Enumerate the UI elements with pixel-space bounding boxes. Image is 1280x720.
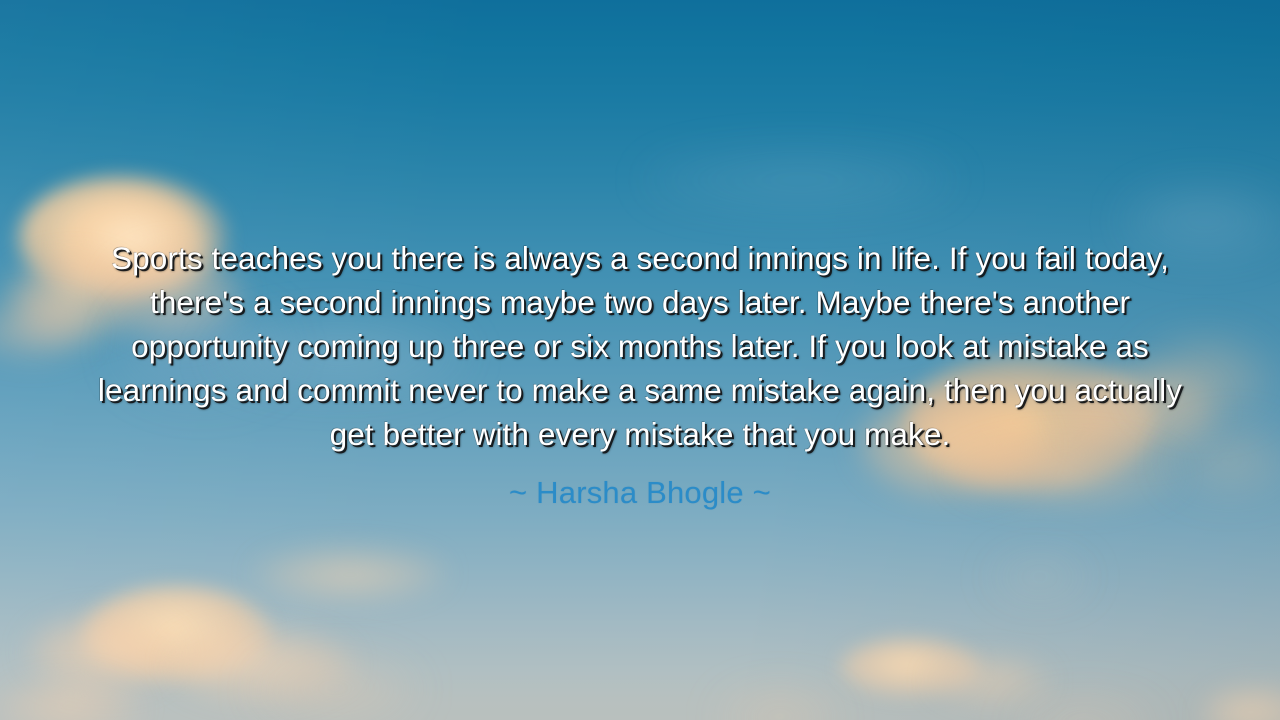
cloud-mid-right-speck — [990, 560, 1090, 594]
cloud-bottom-centre-wisp — [720, 696, 840, 720]
cloud-lower-left-east-lobe — [172, 630, 352, 700]
cloud-lower-left-main — [82, 586, 272, 682]
quote-image-canvas: Sports teaches you there is always a sec… — [0, 0, 1280, 720]
cloud-lower-left-tail — [250, 660, 420, 720]
cloud-upper-centre-wisp — [640, 150, 960, 210]
cloud-lower-left-west-lobe — [28, 616, 178, 688]
cloud-lower-left-top-strip — [255, 548, 445, 598]
quote-block: Sports teaches you there is always a sec… — [85, 236, 1195, 512]
quote-author: ~ Harsha Bhogle ~ — [85, 474, 1195, 512]
cloud-bottom-right-wisp — [1010, 704, 1160, 720]
quote-text: Sports teaches you there is always a sec… — [85, 236, 1195, 456]
cloud-lower-right-tail — [930, 658, 1050, 704]
cloud-lower-right-main — [840, 638, 980, 696]
cloud-bottom-left-corner — [0, 680, 140, 720]
cloud-left-edge-wisp — [0, 300, 90, 360]
cloud-bottom-right-corner — [1205, 690, 1280, 720]
